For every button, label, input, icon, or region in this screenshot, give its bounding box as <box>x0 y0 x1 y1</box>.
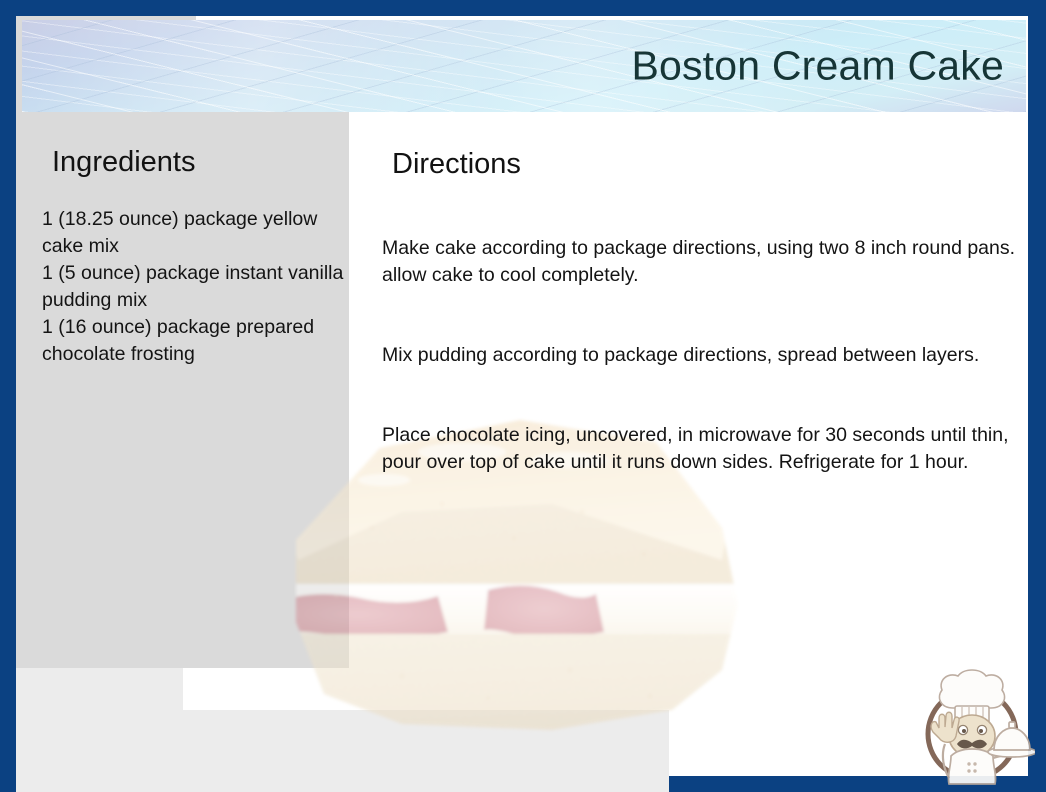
ingredients-list: 1 (18.25 ounce) package yellow cake mix … <box>42 206 362 368</box>
direction-step: Place chocolate icing, uncovered, in mic… <box>382 422 1030 476</box>
chef-logo <box>909 664 1035 792</box>
directions-panel <box>16 710 669 792</box>
slide-page: Boston Cream Cake <box>16 16 1028 776</box>
recipe-slide: Boston Cream Cake <box>0 0 1046 792</box>
slide-border-right <box>1028 0 1046 792</box>
ingredients-heading: Ingredients <box>42 142 210 185</box>
slide-border-left <box>0 0 16 792</box>
direction-step: Make cake according to package direction… <box>382 235 1030 289</box>
directions-heading-background <box>16 668 183 710</box>
title-banner: Boston Cream Cake <box>22 20 1026 112</box>
page-title: Boston Cream Cake <box>631 43 1004 90</box>
direction-step: Mix pudding according to package directi… <box>382 342 1030 369</box>
slide-border-top <box>0 0 1046 16</box>
directions-heading: Directions <box>382 144 535 187</box>
directions-steps: Make cake according to package direction… <box>382 208 1030 503</box>
